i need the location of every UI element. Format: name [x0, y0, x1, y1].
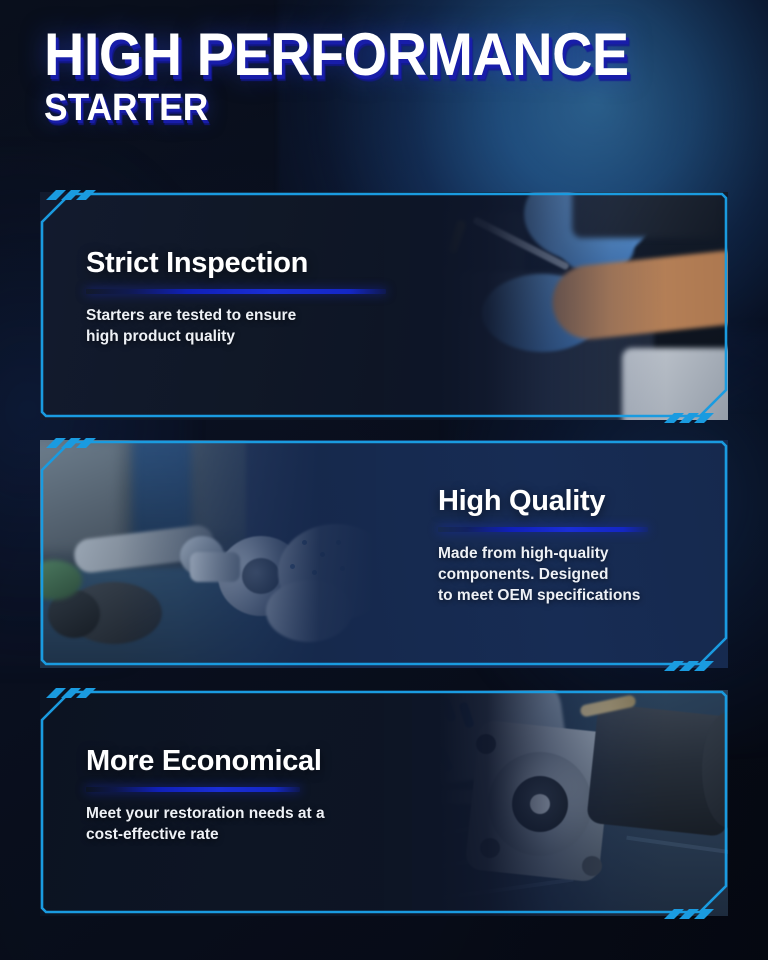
- panel-divider-high-quality: [438, 527, 648, 532]
- panel-body-high-quality: Made from high-quality components. Desig…: [438, 544, 714, 606]
- page-title: HIGH PERFORMANCE: [44, 26, 629, 83]
- page-header: HIGH PERFORMANCE STARTER: [44, 26, 673, 127]
- panel-body-line: high product quality: [86, 327, 386, 348]
- panel-body-more-economical: Meet your restoration needs at a cost-ef…: [86, 804, 406, 845]
- panel-content-strict-inspection: Strict Inspection Starters are tested to…: [40, 192, 728, 420]
- panel-body-line: components. Designed: [438, 565, 714, 586]
- panel-body-line: Made from high-quality: [438, 544, 714, 565]
- panel-text-high-quality: High Quality Made from high-quality comp…: [438, 486, 714, 606]
- panel-body-line: Meet your restoration needs at a: [86, 804, 406, 825]
- feature-panel-more-economical: More Economical Meet your restoration ne…: [40, 690, 728, 916]
- panel-body-line: to meet OEM specifications: [438, 586, 714, 607]
- panel-image-strict-inspection: [384, 192, 728, 420]
- panel-divider-strict-inspection: [86, 289, 386, 294]
- panel-text-more-economical: More Economical Meet your restoration ne…: [86, 746, 406, 846]
- panel-body-line: Starters are tested to ensure: [86, 306, 386, 327]
- panel-body-line: cost-effective rate: [86, 825, 406, 846]
- panel-title-more-economical: More Economical: [86, 746, 406, 776]
- panel-text-strict-inspection: Strict Inspection Starters are tested to…: [86, 248, 386, 348]
- panel-content-more-economical: More Economical Meet your restoration ne…: [40, 690, 728, 916]
- panel-image-more-economical: [384, 690, 728, 916]
- page-subtitle: STARTER: [44, 89, 629, 127]
- feature-panel-strict-inspection: Strict Inspection Starters are tested to…: [40, 192, 728, 420]
- panel-divider-more-economical: [86, 787, 300, 792]
- panel-title-strict-inspection: Strict Inspection: [86, 248, 386, 278]
- panel-body-strict-inspection: Starters are tested to ensure high produ…: [86, 306, 386, 347]
- panel-image-high-quality: [40, 440, 428, 668]
- panel-content-high-quality: High Quality Made from high-quality comp…: [40, 440, 728, 668]
- feature-panel-high-quality: High Quality Made from high-quality comp…: [40, 440, 728, 668]
- panel-title-high-quality: High Quality: [438, 486, 714, 516]
